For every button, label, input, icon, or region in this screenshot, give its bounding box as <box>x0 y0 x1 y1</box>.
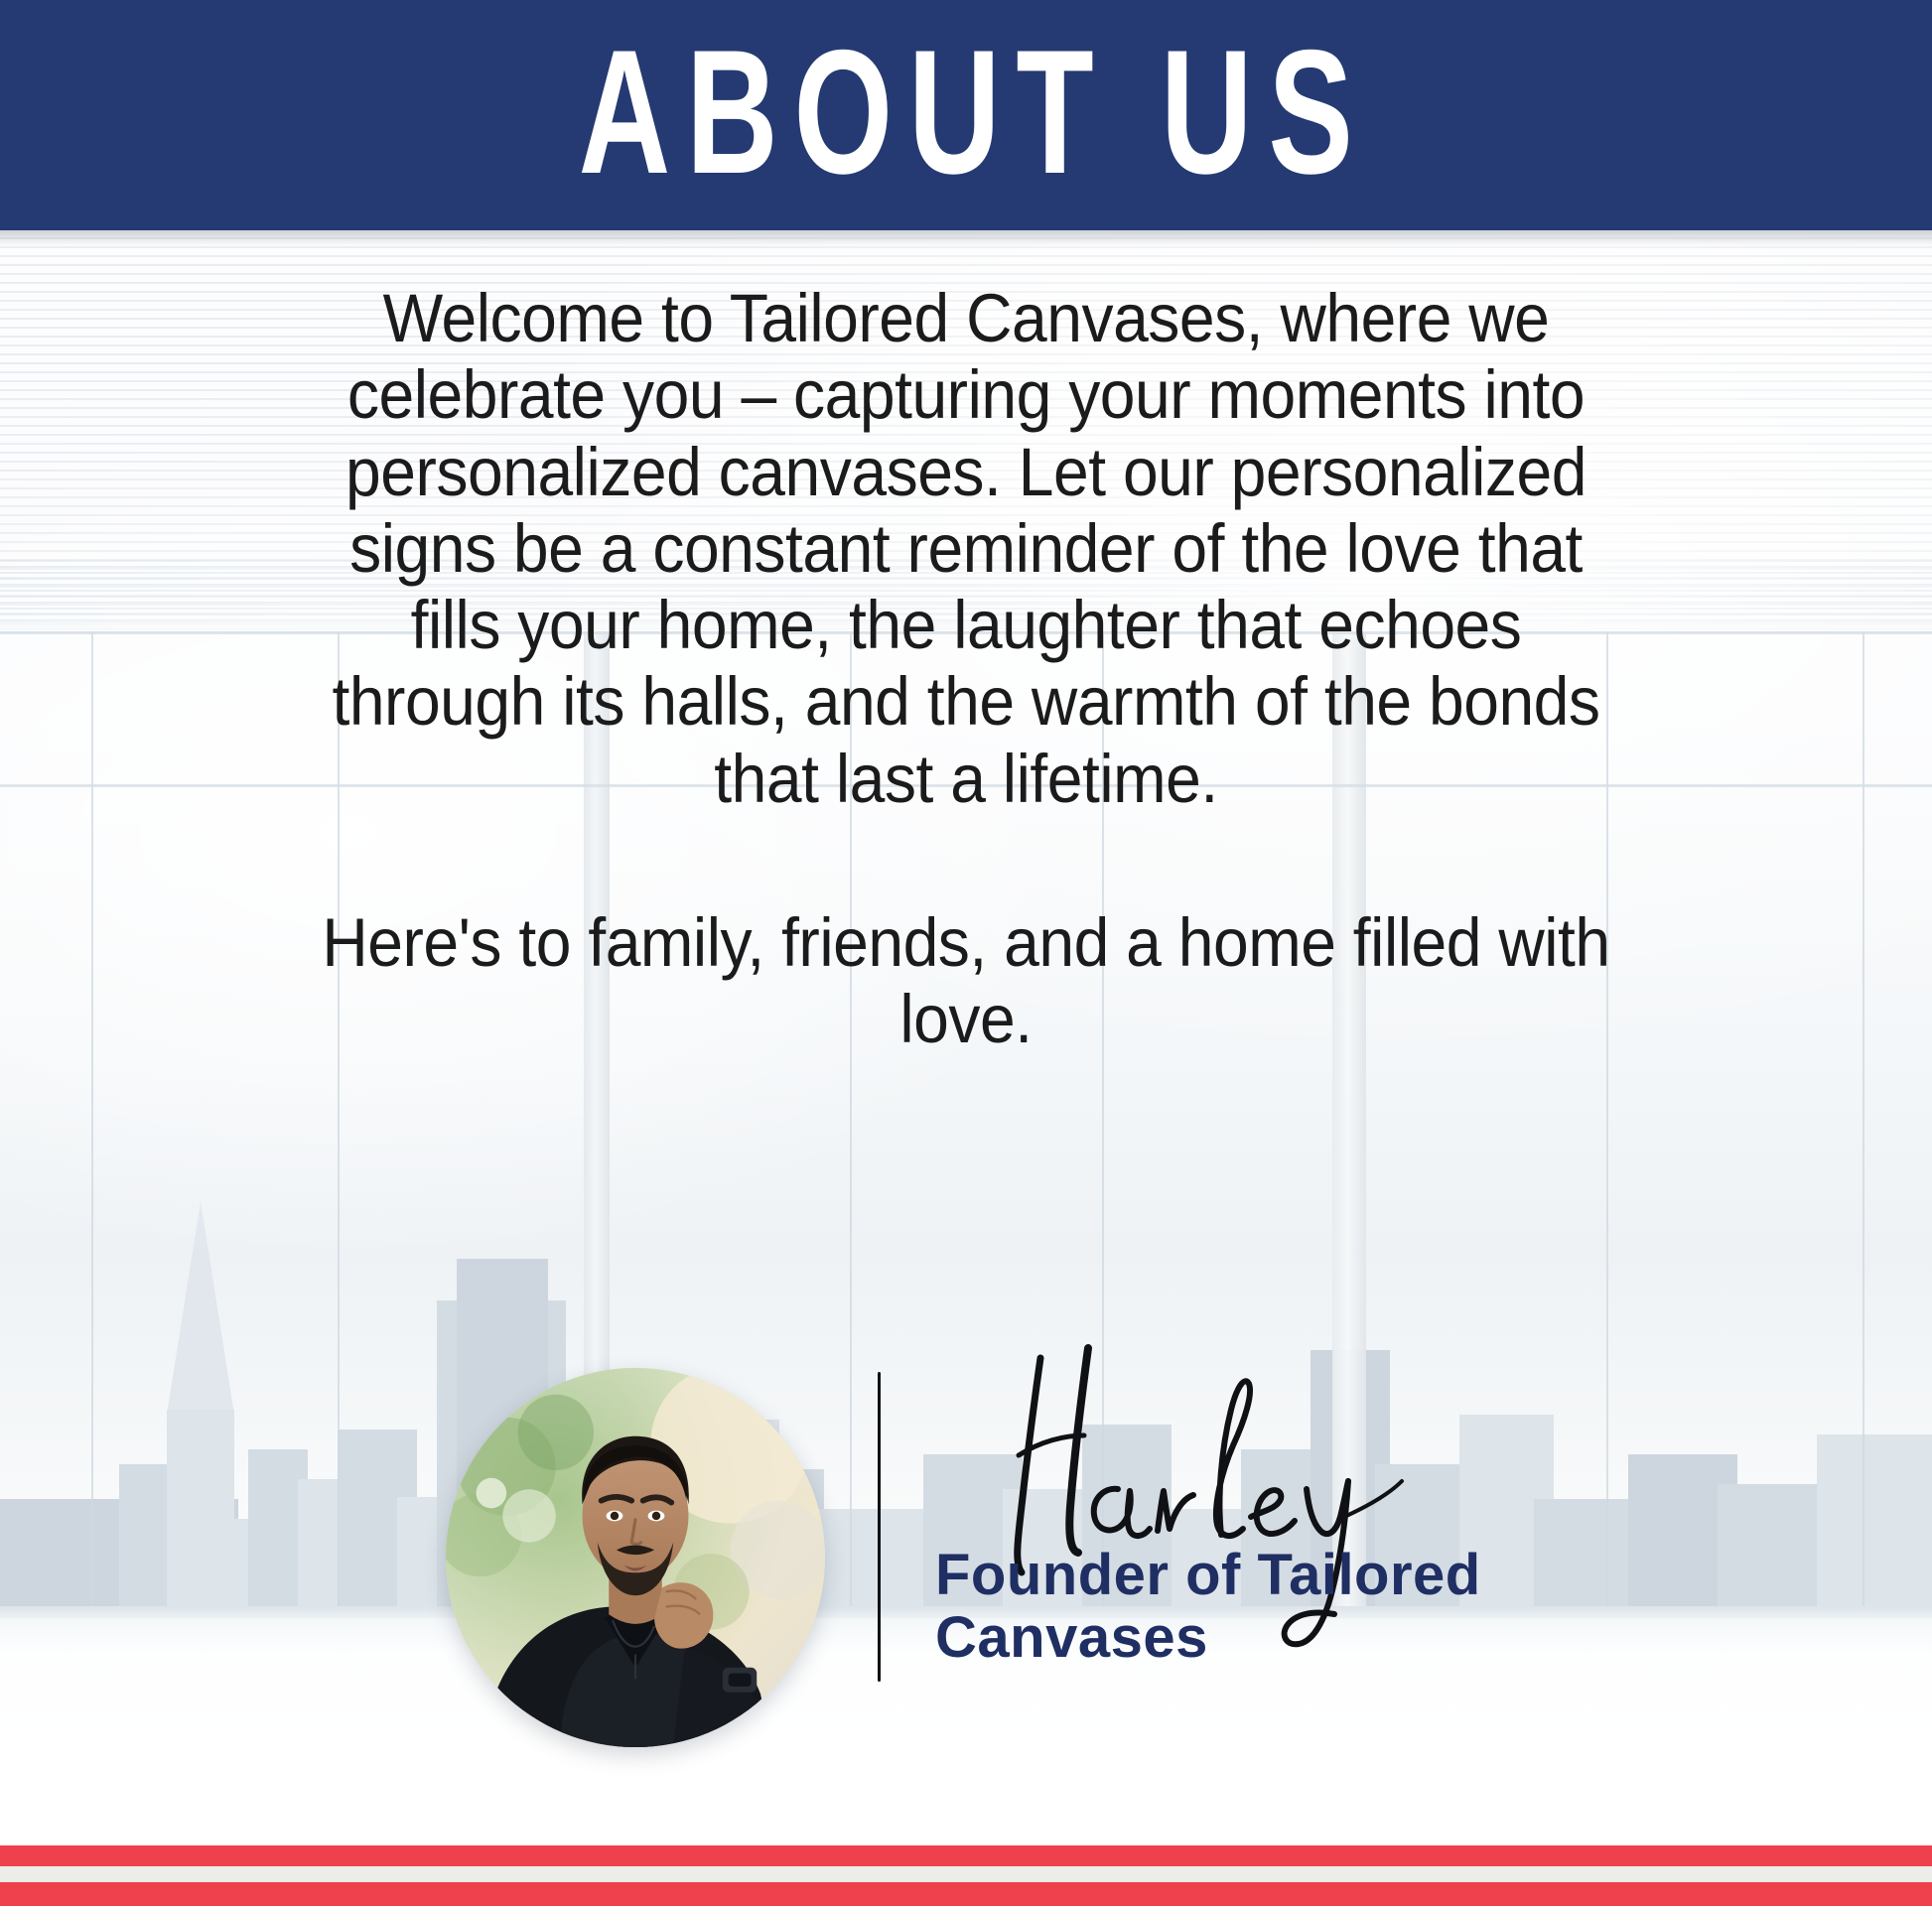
intro-paragraph: Welcome to Tailored Canvases, where we c… <box>311 280 1622 817</box>
page-title: ABOUT US <box>563 24 1369 201</box>
founder-signature-block: Founder of Tailored Canvases <box>0 1350 1932 1906</box>
founder-role-line-2: Canvases <box>935 1607 1551 1670</box>
footer-bar-gap <box>0 1866 1932 1882</box>
footer-bar-bottom <box>0 1882 1932 1906</box>
founder-role: Founder of Tailored Canvases <box>935 1545 1551 1669</box>
signature-divider <box>878 1372 881 1682</box>
footer-bar-top <box>0 1845 1932 1866</box>
closing-paragraph: Here's to family, friends, and a home fi… <box>311 904 1622 1058</box>
founder-role-line-1: Founder of Tailored <box>935 1545 1551 1607</box>
about-us-copy: Welcome to Tailored Canvases, where we c… <box>261 280 1671 1057</box>
about-us-banner: ABOUT US <box>0 0 1932 230</box>
about-us-poster: ABOUT US Welcome to Tailored Canvases, w… <box>0 0 1932 1906</box>
banner-shadow <box>0 230 1932 246</box>
avatar <box>446 1368 825 1747</box>
founder-portrait-icon <box>446 1368 825 1747</box>
